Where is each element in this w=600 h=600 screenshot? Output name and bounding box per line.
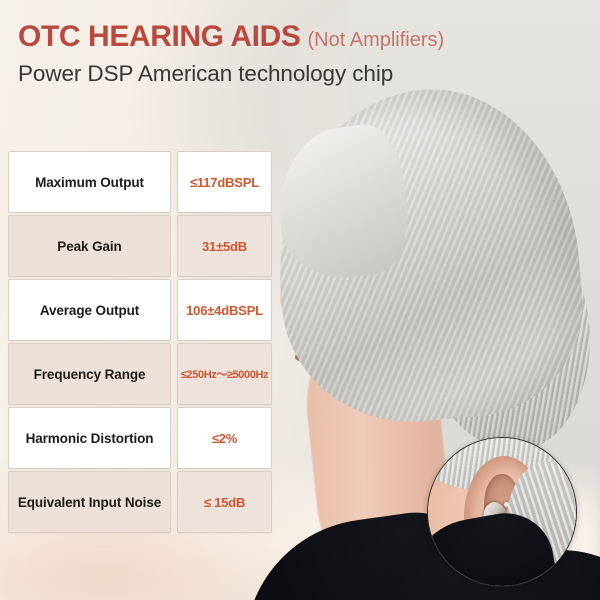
poster-headings: OTC HEARING AIDS(Not Amplifiers) Power D…: [18, 22, 444, 87]
page-title: OTC HEARING AIDS(Not Amplifiers): [18, 22, 444, 52]
table-row: Frequency Range ≤250Hz～≥5000Hz: [8, 343, 272, 405]
spec-value-frequency-range: ≤250Hz～≥5000Hz: [177, 343, 272, 405]
title-main-text: OTC HEARING AIDS: [18, 20, 301, 53]
spec-value-average-output: 106±4dBSPL: [177, 279, 272, 341]
product-poster: OTC HEARING AIDS(Not Amplifiers) Power D…: [0, 0, 600, 600]
table-row: Maximum Output ≤117dBSPL: [8, 151, 272, 213]
table-row: Average Output 106±4dBSPL: [8, 279, 272, 341]
spec-label-equivalent-input-noise: Equivalent Input Noise: [8, 471, 171, 533]
spec-value-peak-gain: 31±5dB: [177, 215, 272, 277]
title-note-text: (Not Amplifiers): [308, 29, 445, 51]
spec-value-harmonic-distortion: ≤2%: [177, 407, 272, 469]
spec-label-peak-gain: Peak Gain: [8, 215, 171, 277]
specifications-table: Maximum Output ≤117dBSPL Peak Gain 31±5d…: [8, 151, 272, 535]
spec-label-maximum-output: Maximum Output: [8, 151, 171, 213]
table-row: Peak Gain 31±5dB: [8, 215, 272, 277]
ear-closeup-inset: [427, 437, 577, 587]
table-row: Harmonic Distortion ≤2%: [8, 407, 272, 469]
spec-label-average-output: Average Output: [8, 279, 171, 341]
table-row: Equivalent Input Noise ≤ 15dB: [8, 471, 272, 533]
spec-label-harmonic-distortion: Harmonic Distortion: [8, 407, 171, 469]
page-subtitle: Power DSP American technology chip: [18, 61, 444, 87]
spec-value-equivalent-input-noise: ≤ 15dB: [177, 471, 272, 533]
spec-label-frequency-range: Frequency Range: [8, 343, 171, 405]
spec-value-maximum-output: ≤117dBSPL: [177, 151, 272, 213]
